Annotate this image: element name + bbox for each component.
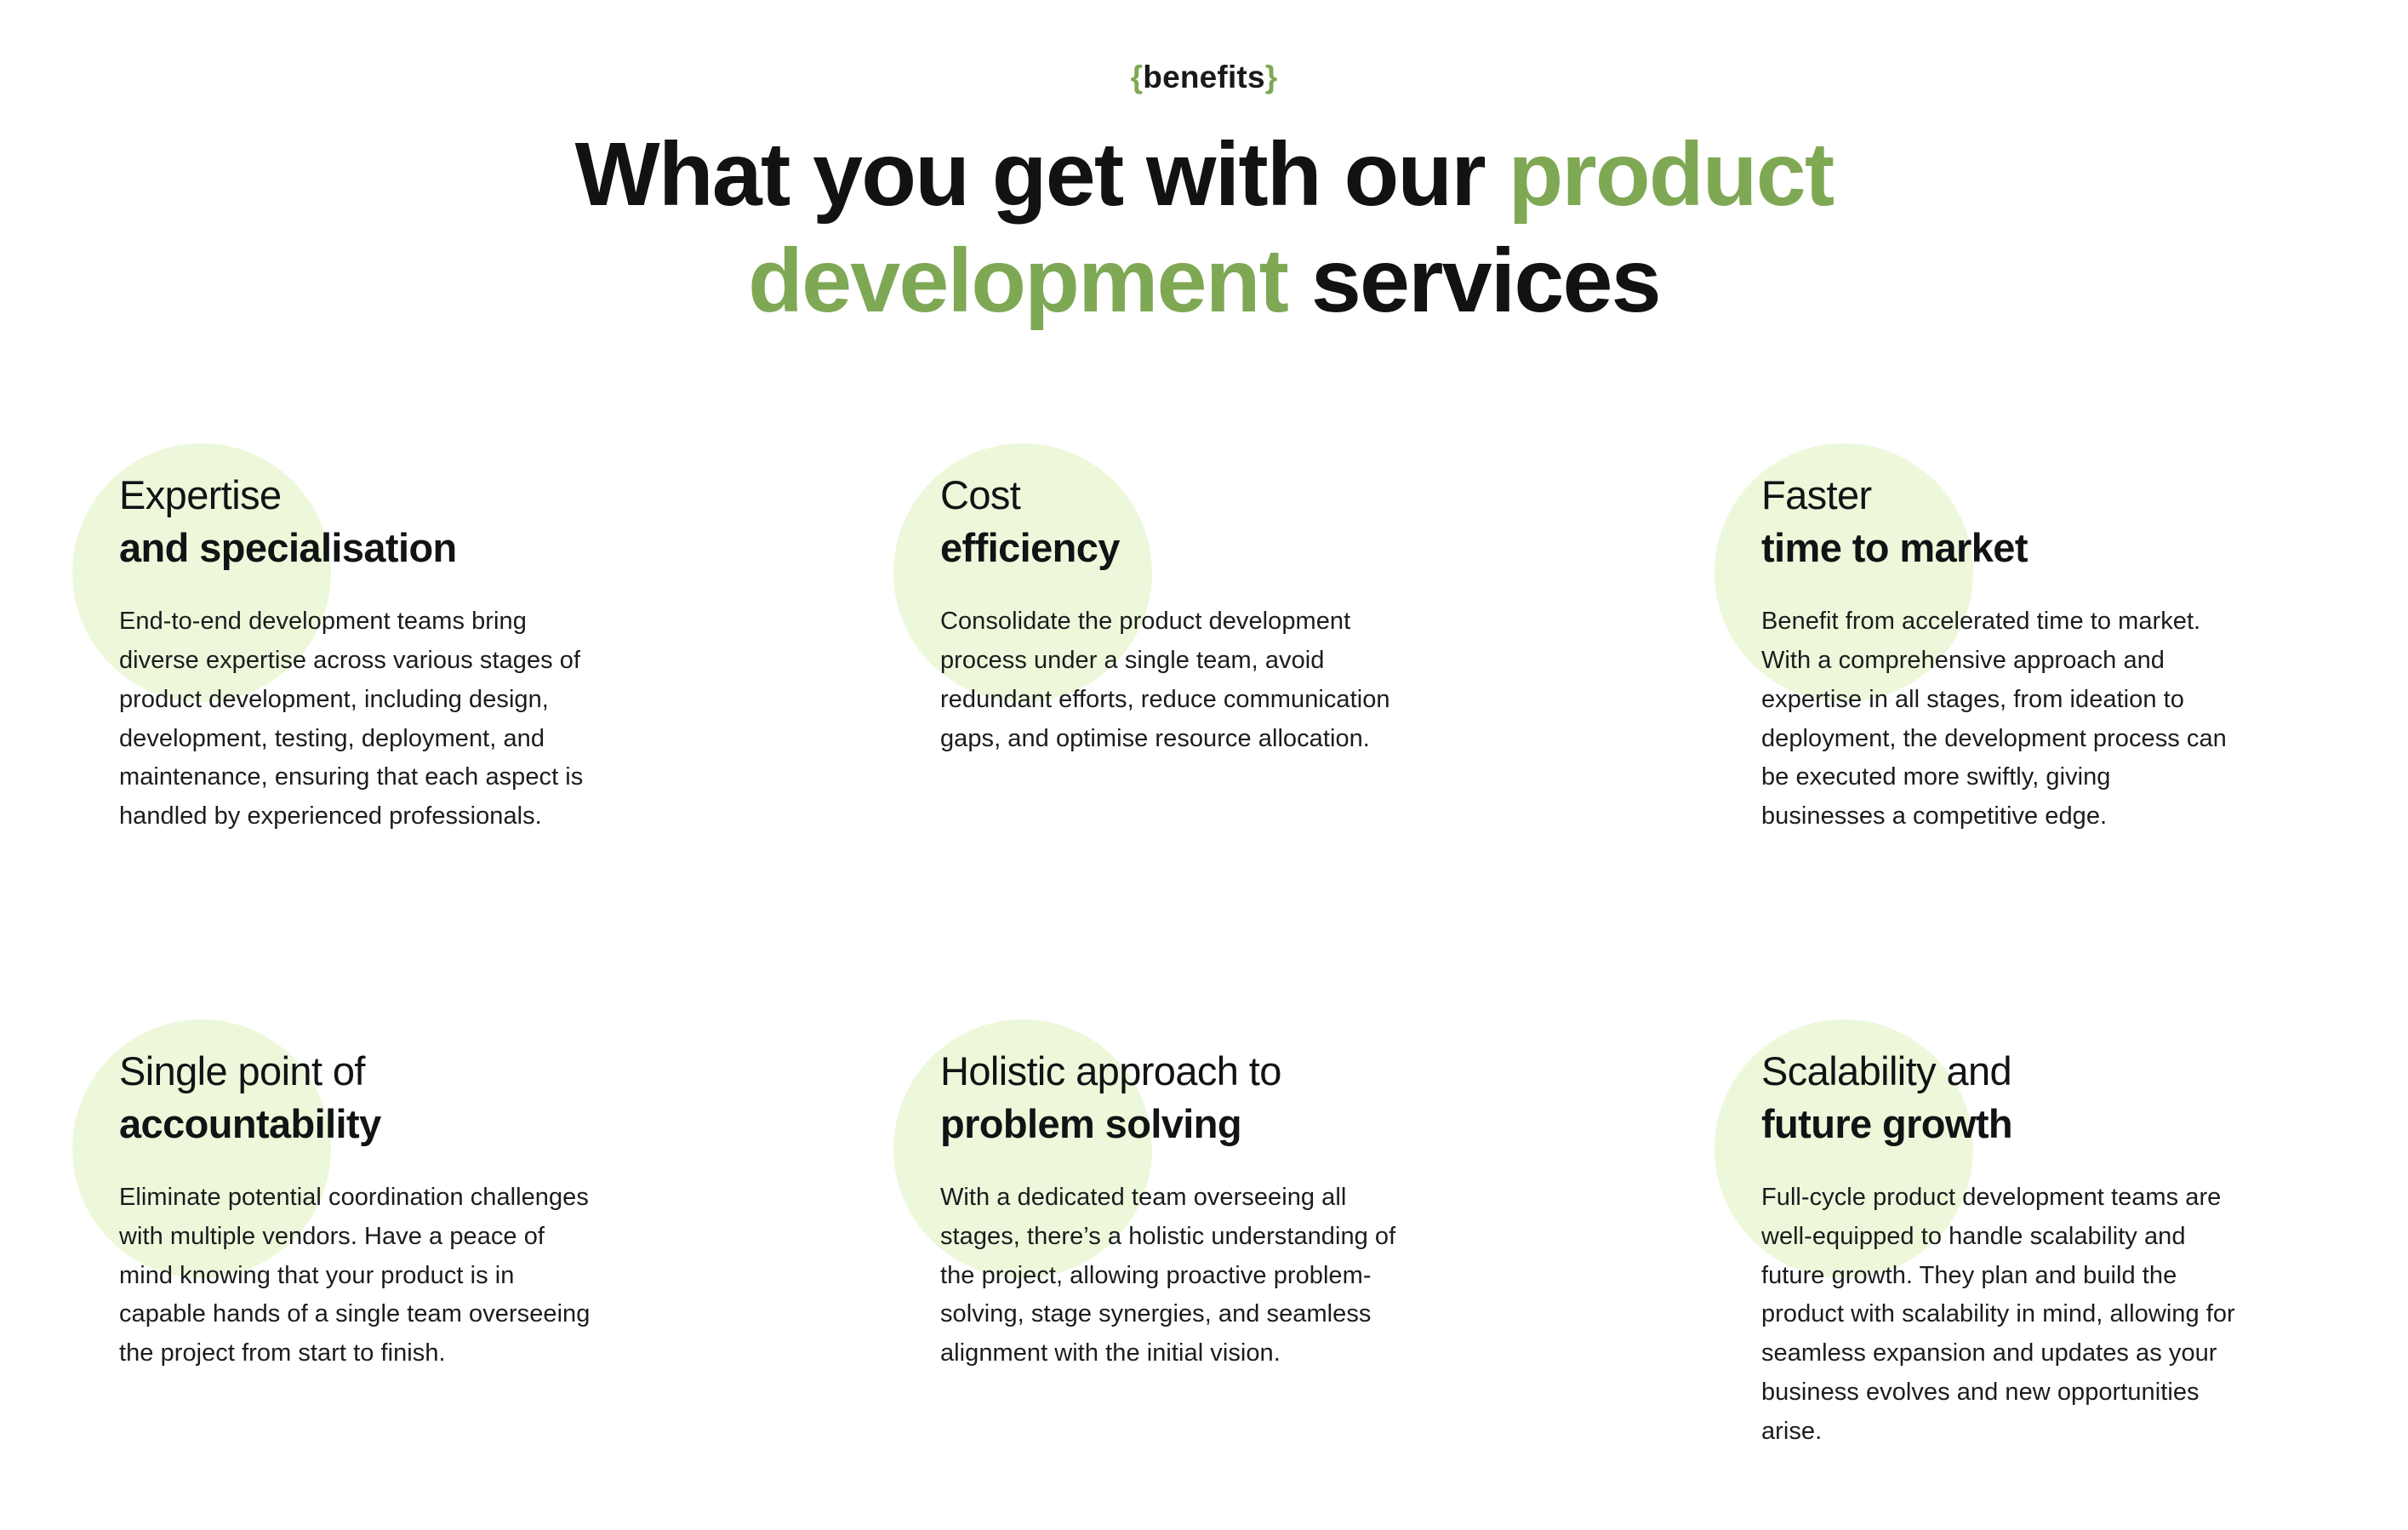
brace-open: { — [1131, 60, 1144, 94]
benefit-title: Holistic approach to problem solving — [940, 1019, 1417, 1150]
benefit-title: Single point of accountability — [119, 1019, 596, 1150]
benefit-title-light: Expertise — [119, 469, 596, 522]
benefit-title-bold: problem solving — [940, 1098, 1417, 1150]
benefit-card: Cost efficiency Consolidate the product … — [940, 443, 1417, 836]
benefit-card: Single point of accountability Eliminate… — [119, 1019, 596, 1452]
heading-part-2: services — [1287, 231, 1660, 331]
benefit-title: Expertise and specialisation — [119, 443, 596, 574]
benefits-grid: Expertise and specialisation End-to-end … — [119, 443, 2297, 1452]
brace-close: } — [1265, 60, 1278, 94]
benefit-card: Faster time to market Benefit from accel… — [1761, 443, 2238, 836]
benefit-title-bold: accountability — [119, 1098, 596, 1150]
benefits-section: {benefits} What you get with our product… — [0, 0, 2408, 1530]
eyebrow-text: {benefits} — [1131, 61, 1278, 93]
eyebrow-label: benefits — [1143, 60, 1264, 94]
benefit-title-bold: future growth — [1761, 1098, 2238, 1150]
benefit-title-bold: and specialisation — [119, 522, 596, 574]
benefit-description: End-to-end development teams bring diver… — [119, 602, 596, 836]
benefit-title: Faster time to market — [1761, 443, 2238, 574]
benefit-card: Scalability and future growth Full-cycle… — [1761, 1019, 2238, 1452]
benefit-title-light: Holistic approach to — [940, 1045, 1417, 1098]
benefit-title-light: Cost — [940, 469, 1417, 522]
benefit-description: Benefit from accelerated time to market.… — [1761, 602, 2238, 836]
benefit-title: Scalability and future growth — [1761, 1019, 2238, 1150]
benefit-description: Full-cycle product development teams are… — [1761, 1179, 2238, 1452]
heading-part-1: What you get with our — [575, 124, 1509, 225]
benefit-title-light: Faster — [1761, 469, 2238, 522]
benefit-card: Holistic approach to problem solving Wit… — [940, 1019, 1417, 1452]
benefit-title: Cost efficiency — [940, 443, 1417, 574]
benefit-description: Eliminate potential coordination challen… — [119, 1179, 596, 1373]
benefit-title-light: Scalability and — [1761, 1045, 2238, 1098]
benefit-title-bold: time to market — [1761, 522, 2238, 574]
benefit-description: Consolidate the product development proc… — [940, 602, 1417, 758]
benefit-description: With a dedicated team overseeing all sta… — [940, 1179, 1417, 1373]
benefit-title-light: Single point of — [119, 1045, 596, 1098]
page-title: What you get with our product developmen… — [0, 122, 2408, 334]
section-eyebrow: {benefits} — [0, 61, 2408, 93]
benefit-card: Expertise and specialisation End-to-end … — [119, 443, 596, 836]
benefit-title-bold: efficiency — [940, 522, 1417, 574]
